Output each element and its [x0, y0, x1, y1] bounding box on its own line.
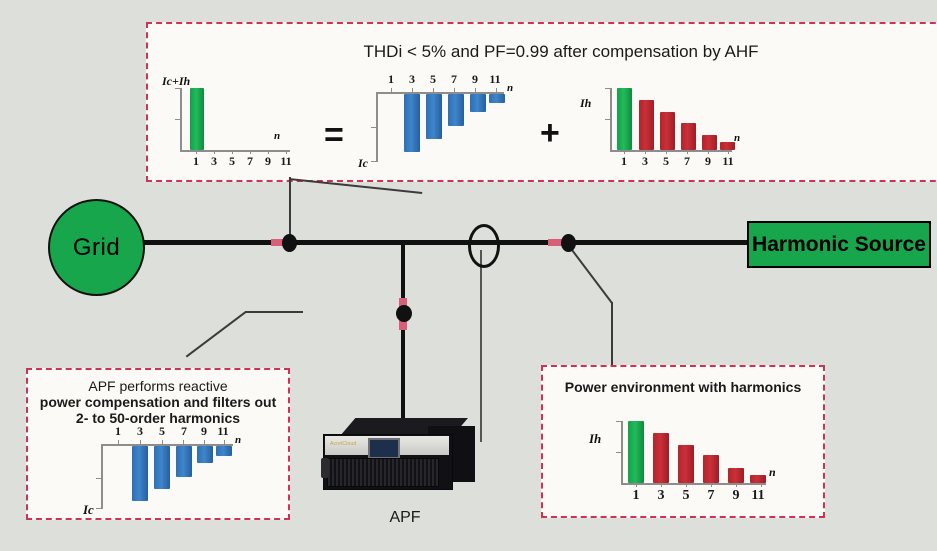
x-axis-name: n: [769, 465, 776, 480]
grid-node[interactable]: Grid: [48, 199, 145, 296]
bar-n3: [404, 94, 420, 152]
x-label-5: 5: [677, 488, 695, 504]
current-transformer-icon: [468, 224, 500, 268]
bottom-left-title-line2: power compensation and filters out: [28, 394, 288, 410]
bar-n5: [154, 446, 170, 489]
x-label-3: 3: [205, 154, 223, 169]
x-label-5: 5: [657, 154, 675, 169]
x-tick: [118, 440, 119, 444]
x-axis-name: n: [235, 434, 241, 446]
x-label-9: 9: [466, 72, 484, 87]
y-axis: [376, 92, 378, 162]
chart-ylabel-ih: Ih: [589, 431, 601, 447]
x-label-5: 5: [223, 154, 241, 169]
chart-ylabel-ic: Ic: [83, 502, 94, 518]
apf-brand-logo: AcrelCloud: [330, 441, 356, 447]
x-label-3: 3: [652, 488, 670, 504]
x-tick: [761, 483, 762, 487]
x-label-9: 9: [195, 424, 213, 439]
x-label-7: 7: [702, 488, 720, 504]
x-label-11: 11: [485, 72, 505, 87]
bar-n9: [702, 135, 717, 150]
bar-n7: [681, 123, 696, 150]
x-tick: [204, 440, 205, 444]
measure-node-left[interactable]: [282, 234, 297, 252]
x-tick: [636, 483, 637, 487]
bar-n3: [639, 100, 654, 150]
bottom-left-callout-box: APF performs reactive power compensation…: [26, 368, 290, 520]
apf-display-screen[interactable]: [368, 438, 400, 459]
x-label-9: 9: [699, 154, 717, 169]
x-axis-name: n: [274, 130, 280, 142]
y-axis: [610, 88, 612, 150]
x-label-7: 7: [678, 154, 696, 169]
bottom-left-title-line1: APF performs reactive: [28, 378, 288, 394]
x-axis: [621, 483, 766, 485]
bar-n7: [448, 94, 464, 126]
y-axis: [180, 88, 182, 150]
x-tick: [391, 88, 392, 92]
x-label-7: 7: [175, 424, 193, 439]
x-tick: [686, 483, 687, 487]
chart-ylabel-ic-ih: Ic+Ih: [162, 74, 190, 89]
main-bus-line: [140, 240, 755, 245]
x-label-3: 3: [131, 424, 149, 439]
x-label-1: 1: [615, 154, 633, 169]
apf-vent-grille: [327, 458, 439, 487]
x-label-7: 7: [445, 72, 463, 87]
harmonic-source-label: Harmonic Source: [752, 233, 926, 257]
apf-device-label: APF: [370, 509, 440, 527]
leader-line-bottom-left-diagonal: [186, 312, 246, 358]
bar-n5: [660, 112, 675, 150]
y-tick: [605, 88, 610, 89]
chart-harmonic-spectrum-bottom: Ih 1 3 5 7 9 11 n: [591, 409, 791, 514]
bottom-right-callout-box: Power environment with harmonics Ih 1 3 …: [541, 365, 825, 518]
bar-n3: [132, 446, 148, 501]
x-tick: [496, 88, 497, 92]
x-label-1: 1: [627, 488, 645, 504]
bottom-right-title: Power environment with harmonics: [543, 379, 823, 395]
bar-n11: [720, 142, 735, 150]
x-label-3: 3: [403, 72, 421, 87]
plus-sign: +: [540, 116, 560, 150]
y-tick: [616, 452, 621, 453]
bar-n5: [426, 94, 442, 139]
x-label-11: 11: [748, 488, 768, 504]
apf-handle-left[interactable]: [321, 458, 329, 478]
grid-node-label: Grid: [73, 234, 120, 262]
x-tick: [140, 440, 141, 444]
bar-n7: [176, 446, 192, 477]
x-axis-name: n: [507, 82, 513, 94]
x-tick: [475, 88, 476, 92]
chart-harmonic-spectrum-top: Ih 1 3 5 7 9 11 n: [586, 76, 756, 171]
leader-line-bottom-left-callout: [245, 311, 303, 313]
bar-n11: [216, 446, 232, 456]
top-callout-title: THDi < 5% and PF=0.99 after compensation…: [148, 42, 937, 62]
y-tick: [175, 119, 180, 120]
bar-n1: [628, 421, 644, 483]
bar-n11: [489, 94, 505, 103]
chart-ylabel-ih: Ih: [580, 96, 591, 111]
bar-n3: [653, 433, 669, 483]
x-axis-name: n: [734, 132, 740, 144]
ct-secondary-wire: [480, 250, 482, 442]
bar-n9: [197, 446, 213, 463]
apf-device[interactable]: AcrelCloud: [318, 418, 493, 503]
x-label-3: 3: [636, 154, 654, 169]
y-axis: [101, 444, 103, 509]
x-label-1: 1: [109, 424, 127, 439]
x-label-11: 11: [718, 154, 738, 169]
y-tick: [605, 119, 610, 120]
x-tick: [183, 440, 184, 444]
y-axis: [621, 421, 623, 483]
diagram-canvas: THDi < 5% and PF=0.99 after compensation…: [0, 0, 937, 551]
x-label-5: 5: [424, 72, 442, 87]
x-tick: [433, 88, 434, 92]
y-tick: [96, 508, 101, 509]
bar-n1: [190, 88, 204, 150]
x-label-11: 11: [276, 154, 296, 169]
bar-n7: [703, 455, 719, 483]
x-label-11: 11: [213, 424, 233, 439]
y-tick: [371, 127, 376, 128]
leader-line-bottom-right-vertical: [611, 302, 613, 368]
harmonic-source-box[interactable]: Harmonic Source: [747, 221, 931, 268]
equals-sign: =: [324, 118, 344, 152]
x-label-1: 1: [187, 154, 205, 169]
y-tick: [616, 421, 621, 422]
x-tick: [454, 88, 455, 92]
y-tick: [96, 478, 101, 479]
x-tick: [224, 440, 225, 444]
x-tick: [711, 483, 712, 487]
x-label-9: 9: [727, 488, 745, 504]
chart-compensation-current-top: 1 3 5 7 9 11 n Ic: [366, 72, 521, 177]
x-label-1: 1: [382, 72, 400, 87]
y-tick: [175, 88, 180, 89]
top-callout-box: THDi < 5% and PF=0.99 after compensation…: [146, 22, 937, 182]
chart-compensation-current-bottom: 1 3 5 7 9 11 n Ic: [83, 424, 243, 524]
bar-n9: [728, 468, 744, 483]
bar-n5: [678, 445, 694, 483]
bar-n9: [470, 94, 486, 112]
chart-ylabel-ic: Ic: [358, 156, 368, 171]
x-axis: [610, 150, 732, 152]
x-label-7: 7: [241, 154, 259, 169]
x-tick: [412, 88, 413, 92]
y-tick: [371, 161, 376, 162]
measure-node-apf-branch[interactable]: [396, 305, 412, 322]
chart-result-spectrum: Ic+Ih 1 3 5 7 9 11 n: [166, 76, 296, 166]
bar-n11: [750, 475, 766, 483]
x-label-5: 5: [153, 424, 171, 439]
measure-node-right[interactable]: [561, 234, 576, 252]
leader-line-bottom-right-callout: [567, 243, 613, 304]
x-label-9: 9: [259, 154, 277, 169]
x-tick: [661, 483, 662, 487]
x-tick: [162, 440, 163, 444]
apf-branch-wire: [401, 243, 405, 418]
x-tick: [736, 483, 737, 487]
bar-n1: [617, 88, 632, 150]
